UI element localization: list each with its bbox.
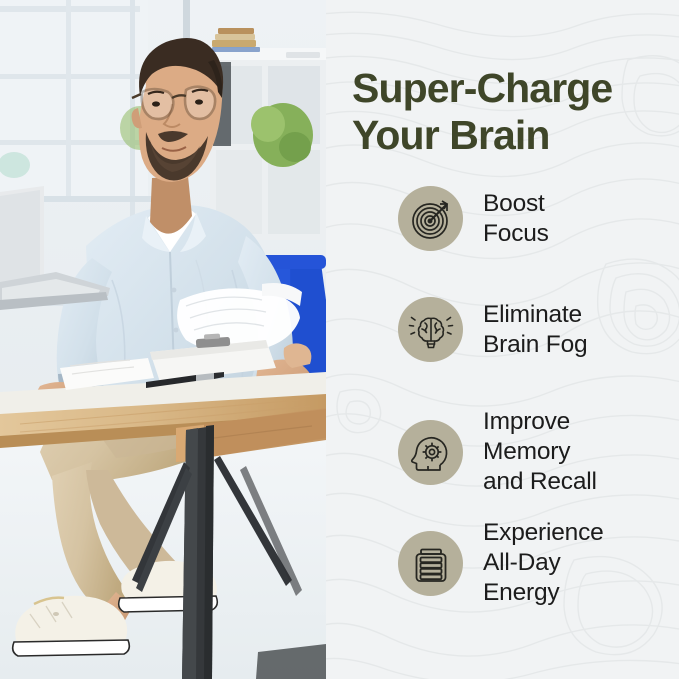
target-arrow-icon xyxy=(398,186,463,251)
benefit-item-improve-memory: Improve Memory and Recall xyxy=(398,407,597,497)
infographic-canvas: Super-Charge Your Brain xyxy=(0,0,679,679)
benefit-item-eliminate-brain-fog: Eliminate Brain Fog xyxy=(398,297,587,362)
battery-full-icon xyxy=(398,531,463,596)
benefit-label: Boost Focus xyxy=(483,189,549,249)
headline-line-2: Your Brain xyxy=(352,112,677,159)
page-title: Super-Charge Your Brain xyxy=(352,65,677,159)
benefit-item-all-day-energy: Experience All-Day Energy xyxy=(398,518,604,608)
benefit-label: Eliminate Brain Fog xyxy=(483,300,587,360)
benefits-panel: Super-Charge Your Brain xyxy=(326,0,679,679)
brain-lightbulb-icon xyxy=(398,297,463,362)
lifestyle-photo xyxy=(0,0,326,679)
headline-line-1: Super-Charge xyxy=(352,65,612,111)
head-gear-icon xyxy=(398,420,463,485)
benefit-label: Experience All-Day Energy xyxy=(483,518,604,608)
benefit-item-boost-focus: Boost Focus xyxy=(398,186,549,251)
benefit-label: Improve Memory and Recall xyxy=(483,407,597,497)
